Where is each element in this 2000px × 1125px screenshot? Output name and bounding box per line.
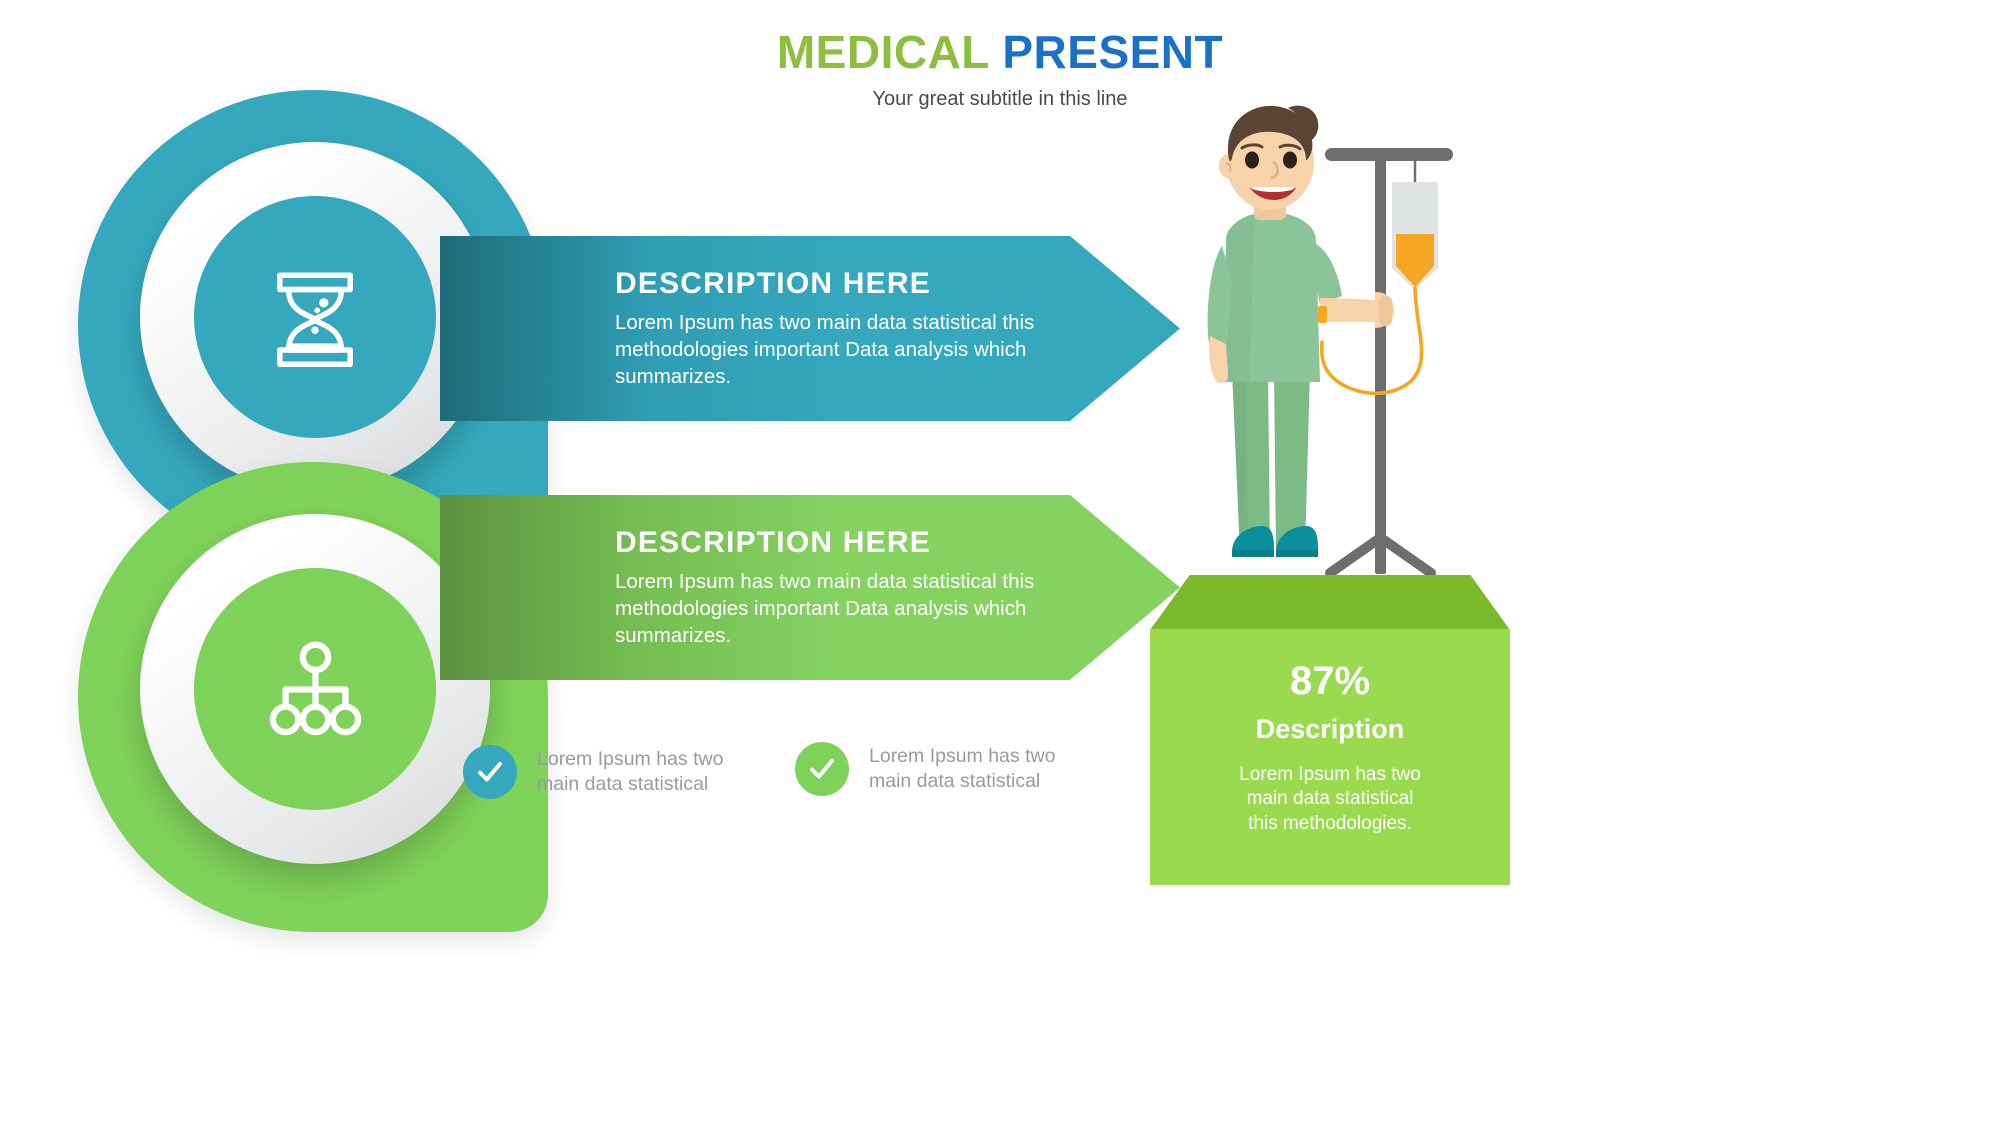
arrow-heading-2: DESCRIPTION HERE (615, 526, 1035, 560)
slide-canvas: MEDICAL PRESENT Your great subtitle in t… (0, 0, 2000, 1125)
arrow-heading-1: DESCRIPTION HERE (615, 267, 1035, 301)
stat-percentage: 87% (1290, 661, 1370, 701)
badge-inner-green (194, 568, 436, 810)
badge-ring-teal (140, 142, 490, 492)
arrow-body-2: DESCRIPTION HERE Lorem Ipsum has two mai… (440, 526, 1165, 649)
check-icon (807, 754, 837, 784)
title-part-medical: MEDICAL (777, 26, 989, 78)
stat-pedestal: 87% Description Lorem Ipsum has two main… (1150, 575, 1510, 885)
doctor-illustration-svg (1170, 100, 1490, 600)
check-label-1: Lorem Ipsum has two main data statistica… (537, 747, 723, 797)
arrow-text-2: Lorem Ipsum has two main data statistica… (615, 568, 1035, 649)
legs (1232, 370, 1310, 552)
check-icon (475, 757, 505, 787)
arrow-text-1: Lorem Ipsum has two main data statistica… (615, 309, 1035, 390)
iv-needle-patch (1318, 306, 1327, 323)
check-circle-green (795, 742, 849, 796)
check-list-item-1[interactable]: Lorem Ipsum has two main data statistica… (463, 745, 723, 799)
title-part-present: PRESENT (1002, 26, 1223, 78)
check-circle-teal (463, 745, 517, 799)
pedestal-top-face (1150, 575, 1510, 630)
scrubs-top (1222, 212, 1320, 382)
check-list-item-2[interactable]: Lorem Ipsum has two main data statistica… (795, 742, 1055, 796)
check-label-2: Lorem Ipsum has two main data statistica… (869, 744, 1055, 794)
hierarchy-icon (258, 632, 373, 747)
stat-label: Description (1256, 714, 1405, 745)
stat-description: Lorem Ipsum has two main data statistica… (1239, 763, 1421, 836)
hourglass-icon (260, 262, 370, 372)
arrow-banner-1[interactable]: DESCRIPTION HERE Lorem Ipsum has two mai… (440, 236, 1180, 421)
badge-ring-green (140, 514, 490, 864)
head (1219, 106, 1318, 210)
arrow-body-1: DESCRIPTION HERE Lorem Ipsum has two mai… (440, 267, 1165, 390)
badge-inner-teal (194, 196, 436, 438)
iv-bag-icon (1392, 156, 1438, 290)
pedestal-front-face: 87% Description Lorem Ipsum has two main… (1150, 629, 1510, 885)
doctor-with-iv-stand-illustration (1170, 100, 1490, 600)
arrow-banner-2[interactable]: DESCRIPTION HERE Lorem Ipsum has two mai… (440, 495, 1180, 680)
page-title: MEDICAL PRESENT (0, 28, 2000, 76)
